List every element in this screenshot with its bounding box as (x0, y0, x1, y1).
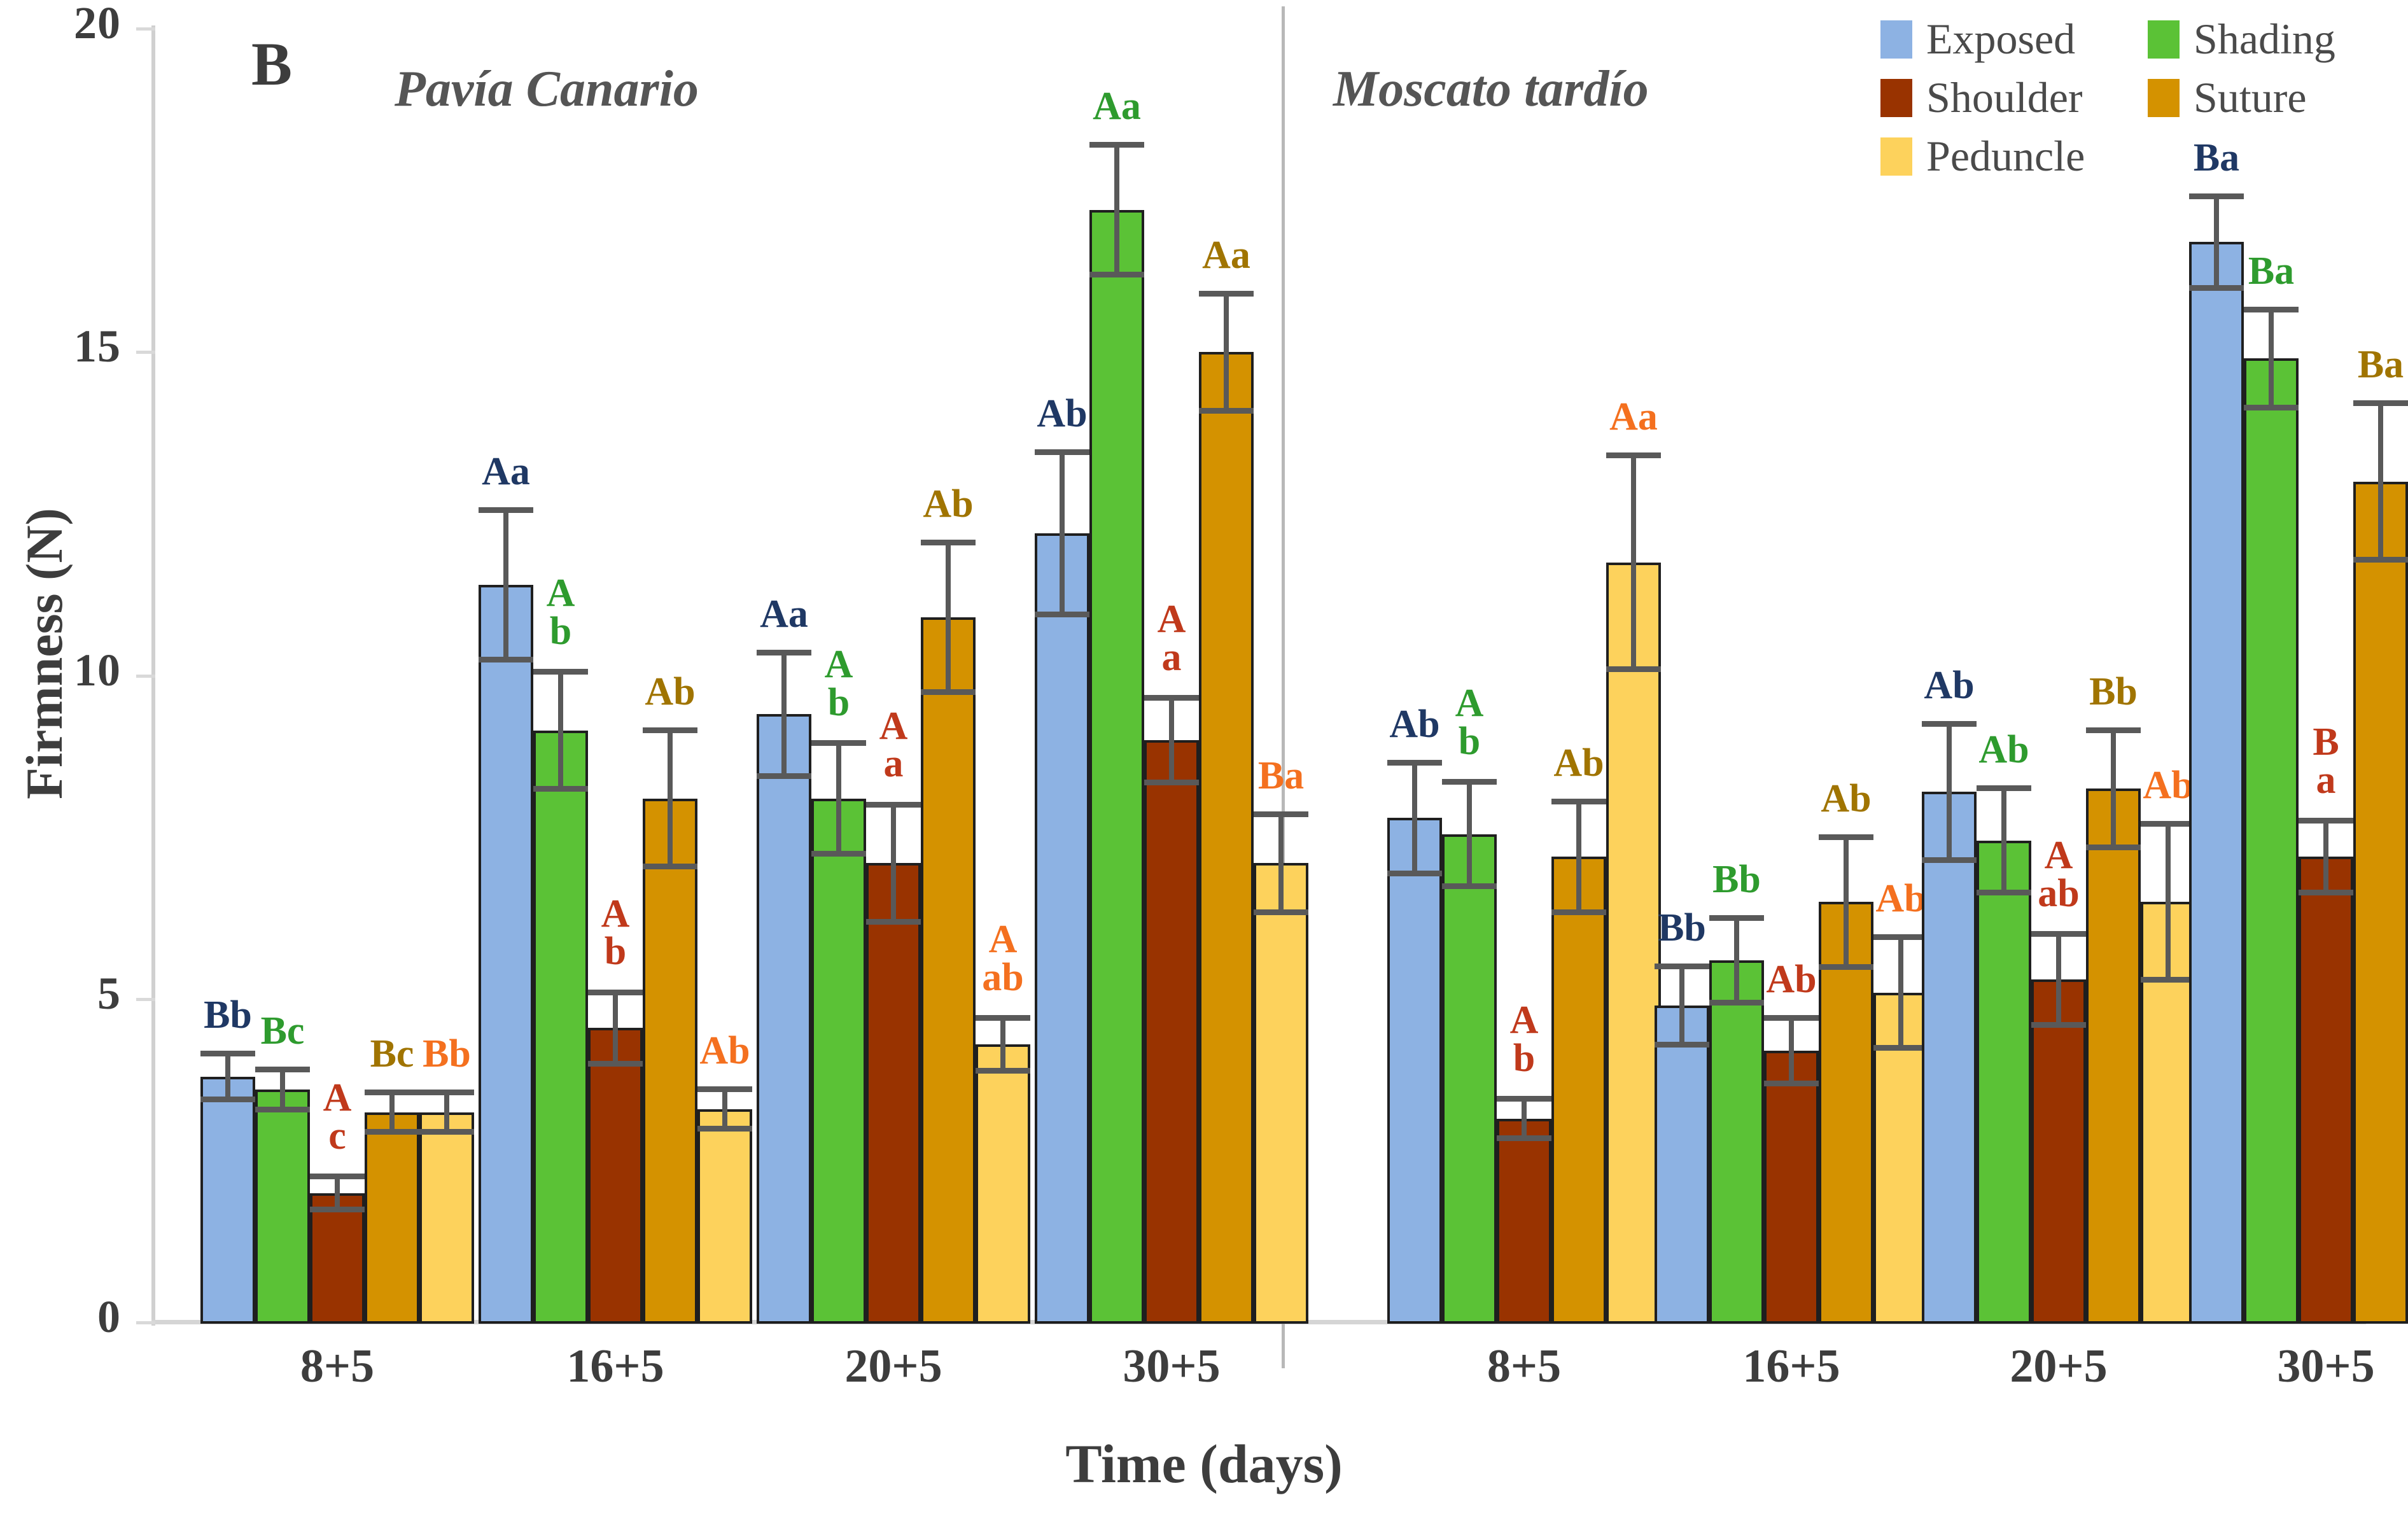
legend-item-peduncle[interactable]: Peduncle (1880, 131, 2085, 181)
x-category-label: 20+5 (760, 1340, 1027, 1394)
bar-shading-16plus5 (1709, 960, 1764, 1324)
legend-label: Peduncle (1926, 131, 2085, 181)
legend-label: Suture (2194, 73, 2307, 123)
bar-suture-20plus5 (2086, 789, 2141, 1324)
bar-shoulder-20plus5 (866, 863, 921, 1324)
y-tick (136, 1321, 155, 1324)
x-category-label: 30+5 (1038, 1340, 1305, 1394)
x-category-label: 16+5 (482, 1340, 749, 1394)
bar-exposed-30plus5 (1035, 533, 1089, 1324)
panel-letter: B (251, 29, 292, 99)
chart-canvas: B 05101520 Firmness (N) Time (days) Paví… (0, 0, 2408, 1514)
significance-label: Ab (608, 673, 732, 711)
significance-label: Bb (1674, 861, 1799, 899)
significance-label: Aa (1571, 398, 1696, 437)
bar-shoulder-8plus5 (1497, 1119, 1551, 1324)
y-tick (136, 27, 155, 31)
significance-label: Ba (2318, 346, 2408, 384)
y-tick-label: 20 (6, 0, 121, 50)
y-tick-label: 5 (6, 967, 121, 1020)
significance-label: Aa (722, 596, 846, 634)
legend-swatch-icon (2148, 20, 2180, 59)
bar-suture-8plus5 (365, 1112, 419, 1324)
x-category-label: 8+5 (1390, 1340, 1658, 1394)
panel-title-right: Moscato tardío (1333, 60, 1649, 118)
bar-shading-20plus5 (1977, 841, 2031, 1324)
legend-swatch-icon (2148, 79, 2180, 117)
bar-peduncle-8plus5 (419, 1112, 474, 1324)
bar-suture-16plus5 (1819, 902, 1873, 1324)
significance-label: Ba (2154, 139, 2279, 178)
significance-label: Bc (220, 1013, 345, 1051)
bar-exposed-30plus5 (2189, 242, 2244, 1324)
y-tick (136, 675, 155, 678)
bar-exposed-16plus5 (1655, 1006, 1709, 1324)
significance-label: Ba (1219, 757, 1343, 796)
x-category-label: 8+5 (204, 1340, 471, 1394)
bar-shading-16plus5 (533, 731, 588, 1324)
bar-suture-8plus5 (1551, 857, 1606, 1324)
bar-shading-30plus5 (2244, 358, 2299, 1324)
bar-exposed-20plus5 (1922, 792, 1977, 1324)
bar-shading-20plus5 (811, 799, 866, 1324)
bar-suture-30plus5 (1199, 352, 1254, 1324)
significance-label: Ab (1784, 780, 1908, 818)
legend-item-suture[interactable]: Suture (2148, 73, 2307, 123)
bar-exposed-16plus5 (479, 585, 533, 1324)
panel-title-left: Pavía Canario (395, 60, 699, 118)
y-tick (136, 351, 155, 354)
legend-label: Shading (2194, 14, 2335, 64)
legend-item-exposed[interactable]: Exposed (1880, 14, 2075, 64)
bar-peduncle-20plus5 (2141, 902, 2195, 1324)
significance-label: Aa (1164, 237, 1289, 275)
legend-swatch-icon (1880, 20, 1912, 59)
y-tick-label: 0 (6, 1291, 121, 1343)
x-axis-title: Time (days) (0, 1432, 2408, 1496)
y-tick (136, 998, 155, 1001)
significance-label: A b (1407, 685, 1532, 761)
legend-label: Shoulder (1926, 73, 2083, 123)
significance-label: Bb (1620, 909, 1744, 948)
bar-shoulder-8plus5 (310, 1193, 365, 1324)
legend-item-shading[interactable]: Shading (2148, 14, 2335, 64)
bar-peduncle-16plus5 (1873, 993, 1928, 1324)
bar-shoulder-16plus5 (588, 1028, 643, 1324)
significance-label: Bb (2051, 673, 2176, 711)
bar-exposed-20plus5 (757, 714, 811, 1324)
bar-shoulder-16plus5 (1764, 1051, 1819, 1324)
y-tick-label: 15 (6, 320, 121, 373)
legend-item-shoulder[interactable]: Shoulder (1880, 73, 2083, 123)
bar-exposed-8plus5 (200, 1077, 255, 1324)
bar-suture-30plus5 (2353, 482, 2408, 1324)
legend-swatch-icon (1880, 79, 1912, 117)
significance-label: Ab (1942, 731, 2066, 769)
legend-swatch-icon (1880, 137, 1912, 176)
bar-peduncle-16plus5 (697, 1109, 752, 1324)
significance-label: Ab (886, 486, 1011, 524)
bar-shading-30plus5 (1089, 210, 1144, 1324)
significance-label: Ab (1887, 667, 2012, 705)
bar-shoulder-30plus5 (1144, 740, 1199, 1324)
bar-peduncle-30plus5 (1254, 863, 1308, 1324)
x-category-label: 16+5 (1658, 1340, 1925, 1394)
x-category-label: 30+5 (2192, 1340, 2408, 1394)
legend-label: Exposed (1926, 14, 2075, 64)
x-category-label: 20+5 (1925, 1340, 2192, 1394)
significance-label: Aa (444, 453, 568, 491)
bar-shading-8plus5 (1442, 834, 1497, 1324)
bar-shoulder-30plus5 (2299, 857, 2353, 1324)
significance-label: A b (498, 575, 623, 650)
significance-label: Aa (1054, 88, 1179, 126)
significance-label: Aa (2373, 421, 2408, 459)
significance-label: Ba (2209, 253, 2334, 291)
bar-shoulder-20plus5 (2031, 979, 2086, 1324)
bar-exposed-8plus5 (1387, 818, 1442, 1324)
y-axis-title: Firmness (N) (15, 488, 74, 819)
bar-peduncle-20plus5 (976, 1044, 1030, 1324)
